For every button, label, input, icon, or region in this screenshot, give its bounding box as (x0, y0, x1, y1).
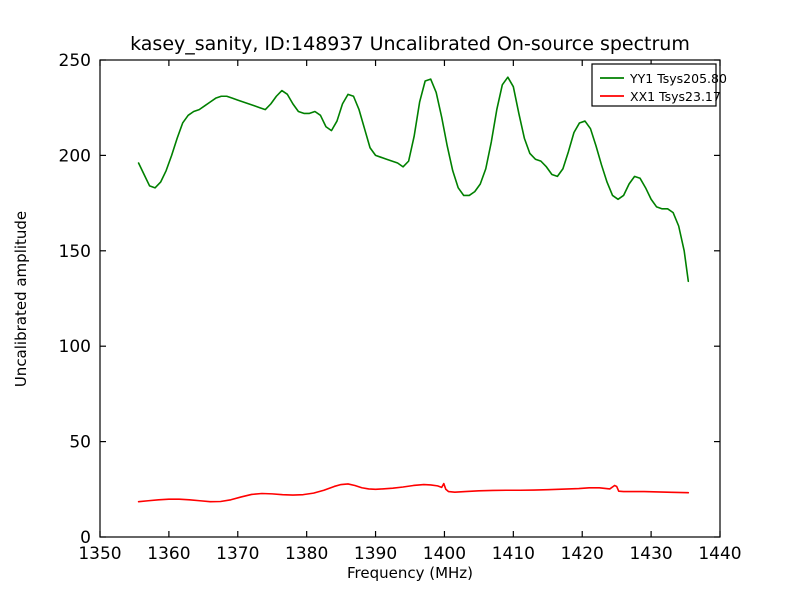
x-tick-label: 1440 (698, 544, 741, 564)
x-tick-label: 1390 (354, 544, 397, 564)
y-tick-label: 100 (59, 337, 91, 357)
figure-canvas: kasey_sanity, ID:148937 Uncalibrated On-… (0, 0, 800, 600)
x-tick-label: 1370 (216, 544, 259, 564)
legend-label-1: YY1 Tsys205.80 (629, 71, 727, 86)
y-tick-label: 150 (59, 242, 91, 262)
legend-label-2: XX1 Tsys23.17 (630, 89, 721, 104)
x-tick-label: 1430 (629, 544, 672, 564)
x-tick-label: 1410 (492, 544, 535, 564)
spectrum-plot: kasey_sanity, ID:148937 Uncalibrated On-… (0, 0, 800, 600)
chart-legend: YY1 Tsys205.80XX1 Tsys23.17 (592, 64, 727, 106)
x-axis-label: Frequency (MHz) (347, 564, 473, 582)
y-tick-label: 0 (80, 528, 91, 548)
y-tick-label: 200 (59, 146, 91, 166)
x-tick-label: 1360 (147, 544, 190, 564)
y-tick-label: 250 (59, 51, 91, 71)
y-axis-label: Uncalibrated amplitude (12, 211, 30, 387)
x-tick-label: 1380 (285, 544, 328, 564)
y-tick-label: 50 (69, 433, 91, 453)
x-tick-label: 1400 (423, 544, 466, 564)
x-tick-label: 1420 (561, 544, 604, 564)
page-title: kasey_sanity, ID:148937 Uncalibrated On-… (130, 33, 690, 55)
